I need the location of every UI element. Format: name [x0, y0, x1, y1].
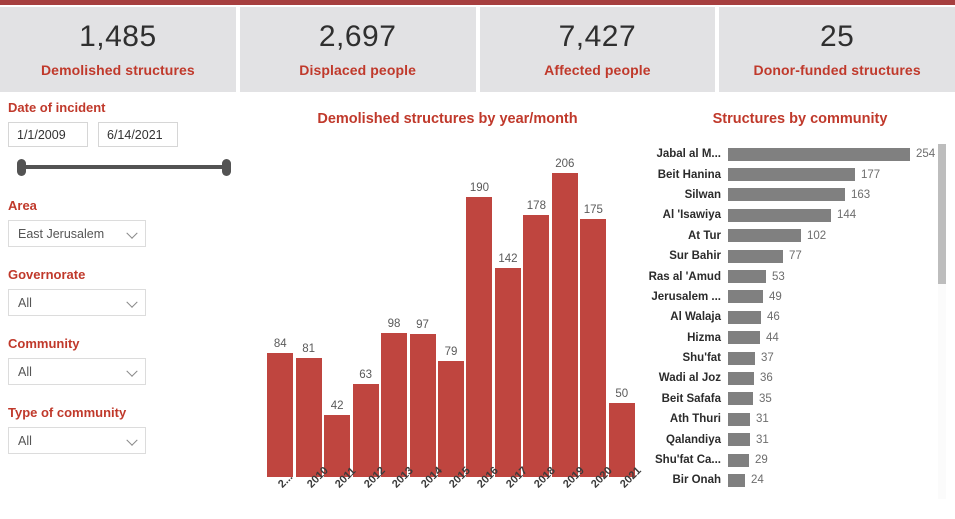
community-label: Ras al 'Amud — [645, 271, 728, 283]
x-axis-labels: 2...201020112012201320142015201620172018… — [266, 478, 636, 518]
community-value-label: 44 — [766, 332, 779, 344]
community-bar[interactable] — [728, 229, 801, 242]
community-label: Sur Bahir — [645, 250, 728, 262]
community-value-label: 144 — [837, 209, 856, 221]
bar-column[interactable]: 98 — [381, 318, 407, 477]
kpi-card-demolished-structures[interactable]: 1,485 Demolished structures — [0, 7, 236, 92]
community-row[interactable]: Beit Safafa35 — [645, 389, 940, 409]
community-bar[interactable] — [728, 168, 855, 181]
slider-handle-start[interactable] — [17, 159, 26, 176]
chevron-down-icon — [126, 296, 137, 307]
community-label: Beit Safafa — [645, 393, 728, 405]
bar-value-label: 175 — [584, 204, 603, 216]
community-value-label: 163 — [851, 189, 870, 201]
area-filter-title: Area — [8, 198, 250, 213]
chart-title: Structures by community — [645, 100, 955, 127]
community-bar-wrap: 36 — [728, 372, 773, 385]
top-accent-bar — [0, 0, 955, 5]
kpi-card-displaced-people[interactable]: 2,697 Displaced people — [240, 7, 476, 92]
bar-value-label: 79 — [445, 346, 458, 358]
bar-rect[interactable] — [267, 353, 293, 477]
bar-column[interactable]: 206 — [552, 158, 578, 477]
bar-rect[interactable] — [609, 403, 635, 477]
chart-title: Demolished structures by year/month — [250, 100, 645, 127]
bar-column[interactable]: 42 — [324, 400, 350, 477]
bar-value-label: 84 — [274, 338, 287, 350]
community-filter-group: Community All — [8, 336, 250, 385]
community-bar[interactable] — [728, 474, 745, 487]
community-value-label: 49 — [769, 291, 782, 303]
community-value-label: 24 — [751, 474, 764, 486]
structures-by-community-chart: Structures by community Jabal al M...254… — [645, 100, 955, 519]
bar-value-label: 98 — [388, 318, 401, 330]
community-label: Beit Hanina — [645, 169, 728, 181]
community-value-label: 37 — [761, 352, 774, 364]
bar-column[interactable]: 175 — [580, 204, 606, 477]
community-bar-wrap: 163 — [728, 188, 870, 201]
community-value-label: 177 — [861, 169, 880, 181]
type-of-community-select-value: All — [18, 434, 32, 448]
bar-value-label: 178 — [527, 200, 546, 212]
filter-panel: Date of incident 1/1/2009 6/14/2021 Area… — [0, 100, 250, 519]
community-bar-wrap: 46 — [728, 311, 780, 324]
kpi-card-row: 1,485 Demolished structures 2,697 Displa… — [0, 7, 955, 92]
community-bar[interactable] — [728, 352, 755, 365]
community-bar-wrap: 35 — [728, 392, 772, 405]
community-bar-wrap: 49 — [728, 290, 782, 303]
community-bar[interactable] — [728, 454, 749, 467]
community-row[interactable]: Jerusalem ...49 — [645, 287, 940, 307]
slider-track[interactable] — [22, 165, 226, 169]
chevron-down-icon — [126, 434, 137, 445]
bar-rect[interactable] — [523, 215, 549, 477]
community-rows: Jabal al M...254Beit Hanina177Silwan163A… — [645, 144, 940, 491]
governorate-select-value: All — [18, 296, 32, 310]
community-row[interactable]: Jabal al M...254 — [645, 144, 940, 164]
dashboard-root: 1,485 Demolished structures 2,697 Displa… — [0, 0, 955, 519]
community-value-label: 46 — [767, 311, 780, 323]
community-value-label: 254 — [916, 148, 935, 160]
date-filter-group: Date of incident 1/1/2009 6/14/2021 — [8, 100, 250, 178]
community-row[interactable]: At Tur102 — [645, 226, 940, 246]
community-bar-wrap: 31 — [728, 413, 769, 426]
kpi-label: Affected people — [544, 62, 651, 78]
date-end-input[interactable]: 6/14/2021 — [98, 122, 178, 147]
community-bar-wrap: 31 — [728, 433, 769, 446]
bar-rect[interactable] — [353, 384, 379, 477]
type-of-community-select[interactable]: All — [8, 427, 146, 454]
community-row[interactable]: Hizma44 — [645, 328, 940, 348]
bar-column[interactable]: 142 — [495, 253, 521, 477]
community-value-label: 53 — [772, 271, 785, 283]
chevron-down-icon — [126, 227, 137, 238]
community-bar-wrap: 44 — [728, 331, 779, 344]
community-row[interactable]: Qalandiya31 — [645, 429, 940, 449]
community-row[interactable]: Al Walaja46 — [645, 307, 940, 327]
bar-rect[interactable] — [552, 173, 578, 477]
bar-value-label: 63 — [359, 369, 372, 381]
bar-rect[interactable] — [410, 334, 436, 477]
community-label: Jabal al M... — [645, 148, 728, 160]
community-scrollbar-thumb[interactable] — [938, 144, 946, 284]
bar-column[interactable]: 63 — [353, 369, 379, 477]
community-select[interactable]: All — [8, 358, 146, 385]
bar-value-label: 97 — [416, 319, 429, 331]
community-row[interactable]: Silwan163 — [645, 185, 940, 205]
community-bar-wrap: 102 — [728, 229, 826, 242]
community-bar[interactable] — [728, 392, 753, 405]
kpi-label: Donor-funded structures — [754, 62, 921, 78]
bar-rect[interactable] — [495, 268, 521, 477]
date-start-input[interactable]: 1/1/2009 — [8, 122, 88, 147]
community-value-label: 31 — [756, 434, 769, 446]
community-row[interactable]: Wadi al Joz36 — [645, 368, 940, 388]
community-row[interactable]: Bir Onah24 — [645, 470, 940, 490]
community-bar-wrap: 177 — [728, 168, 880, 181]
community-bar-wrap: 144 — [728, 209, 856, 222]
kpi-label: Displaced people — [299, 62, 416, 78]
bar-value-label: 190 — [470, 182, 489, 194]
bar-value-label: 81 — [302, 343, 315, 355]
community-label: Ath Thuri — [645, 413, 728, 425]
community-row[interactable]: Beit Hanina177 — [645, 164, 940, 184]
community-label: Jerusalem ... — [645, 291, 728, 303]
community-row[interactable]: Shu'fat37 — [645, 348, 940, 368]
community-label: Al 'Isawiya — [645, 209, 728, 221]
community-row[interactable]: Ath Thuri31 — [645, 409, 940, 429]
community-bar[interactable] — [728, 331, 760, 344]
bar-value-label: 42 — [331, 400, 344, 412]
community-label: At Tur — [645, 230, 728, 242]
community-label: Qalandiya — [645, 434, 728, 446]
bar-rect[interactable] — [466, 197, 492, 477]
community-row[interactable]: Shu'fat Ca...29 — [645, 450, 940, 470]
community-label: Al Walaja — [645, 311, 728, 323]
date-filter-title: Date of incident — [8, 100, 250, 115]
community-row[interactable]: Sur Bahir77 — [645, 246, 940, 266]
bar-rect[interactable] — [438, 361, 464, 477]
area-filter-group: Area East Jerusalem — [8, 198, 250, 247]
bar-column[interactable]: 97 — [410, 319, 436, 477]
bar-column[interactable]: 178 — [523, 200, 549, 477]
kpi-card-donor-funded-structures[interactable]: 25 Donor-funded structures — [719, 7, 955, 92]
kpi-value: 25 — [820, 21, 854, 53]
kpi-card-affected-people[interactable]: 7,427 Affected people — [480, 7, 716, 92]
type-of-community-filter-group: Type of community All — [8, 405, 250, 454]
community-bar-wrap: 77 — [728, 250, 802, 263]
bar-rect[interactable] — [296, 358, 322, 477]
community-label: Hizma — [645, 332, 728, 344]
kpi-value: 2,697 — [319, 21, 397, 53]
bar-column[interactable]: 81 — [296, 343, 322, 477]
bar-plot-area: 8481426398977919014217820617550 — [266, 142, 636, 477]
chevron-down-icon — [126, 365, 137, 376]
community-bar-wrap: 254 — [728, 148, 935, 161]
community-bar[interactable] — [728, 372, 754, 385]
area-select[interactable]: East Jerusalem — [8, 220, 146, 247]
bar-value-label: 206 — [555, 158, 574, 170]
bar-value-label: 50 — [615, 388, 628, 400]
community-select-value: All — [18, 365, 32, 379]
type-of-community-filter-title: Type of community — [8, 405, 250, 420]
kpi-label: Demolished structures — [41, 62, 195, 78]
governorate-filter-title: Governorate — [8, 267, 250, 282]
community-bar[interactable] — [728, 433, 750, 446]
community-bar[interactable] — [728, 413, 750, 426]
bar-rect[interactable] — [381, 333, 407, 477]
kpi-value: 1,485 — [79, 21, 157, 53]
community-value-label: 31 — [756, 413, 769, 425]
community-bar-wrap: 29 — [728, 454, 768, 467]
community-row[interactable]: Ras al 'Amud53 — [645, 266, 940, 286]
community-bar[interactable] — [728, 311, 761, 324]
slider-handle-end[interactable] — [222, 159, 231, 176]
bar-column[interactable]: 50 — [609, 388, 635, 477]
demolished-by-year-chart: Demolished structures by year/month 8481… — [250, 100, 645, 519]
governorate-filter-group: Governorate All — [8, 267, 250, 316]
community-bar-wrap: 53 — [728, 270, 785, 283]
community-label: Silwan — [645, 189, 728, 201]
community-label: Shu'fat — [645, 352, 728, 364]
community-bar[interactable] — [728, 250, 783, 263]
bar-column[interactable]: 190 — [466, 182, 492, 477]
community-bar[interactable] — [728, 209, 831, 222]
area-select-value: East Jerusalem — [18, 227, 104, 241]
community-label: Bir Onah — [645, 474, 728, 486]
bar-column[interactable]: 84 — [267, 338, 293, 477]
community-value-label: 102 — [807, 230, 826, 242]
bar-column[interactable]: 79 — [438, 346, 464, 477]
community-value-label: 36 — [760, 372, 773, 384]
community-value-label: 77 — [789, 250, 802, 262]
community-bar[interactable] — [728, 148, 910, 161]
community-label: Wadi al Joz — [645, 372, 728, 384]
kpi-value: 7,427 — [559, 21, 637, 53]
community-value-label: 35 — [759, 393, 772, 405]
community-value-label: 29 — [755, 454, 768, 466]
bar-rect[interactable] — [580, 219, 606, 477]
community-filter-title: Community — [8, 336, 250, 351]
date-range-slider[interactable] — [8, 156, 232, 178]
community-bar-wrap: 24 — [728, 474, 764, 487]
community-bar[interactable] — [728, 188, 845, 201]
community-bar-wrap: 37 — [728, 352, 774, 365]
community-row[interactable]: Al 'Isawiya144 — [645, 205, 940, 225]
governorate-select[interactable]: All — [8, 289, 146, 316]
date-range-inputs: 1/1/2009 6/14/2021 — [8, 122, 250, 147]
community-bar[interactable] — [728, 270, 766, 283]
community-bar[interactable] — [728, 290, 763, 303]
community-label: Shu'fat Ca... — [645, 454, 728, 466]
bar-value-label: 142 — [498, 253, 517, 265]
